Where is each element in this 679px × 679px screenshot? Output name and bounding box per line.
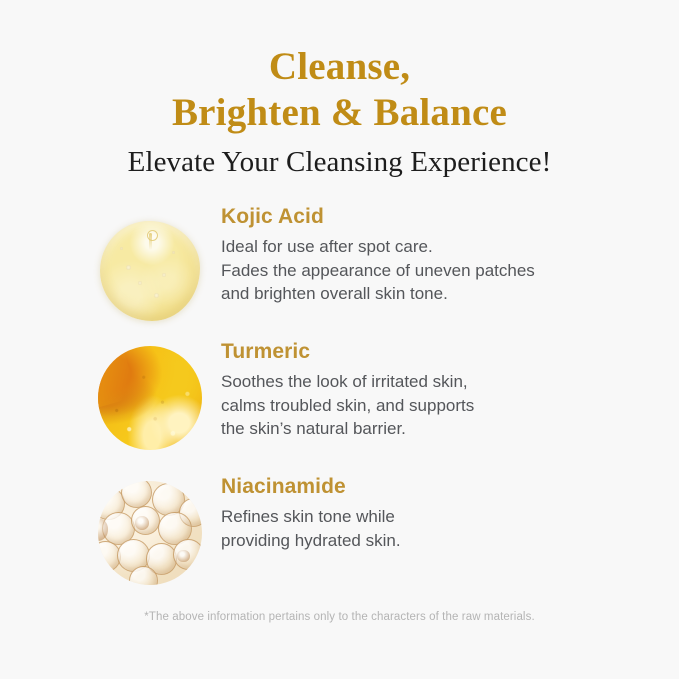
gel-bubble-detail [162,273,166,277]
kojic-acid-swatch-wrap [98,211,202,315]
description-line: providing hydrated skin. [221,529,641,553]
ingredient-infographic: Cleanse, Brighten & Balance Elevate Your… [0,0,679,679]
header-block: Cleanse, Brighten & Balance Elevate Your… [0,44,679,179]
turmeric-text: Turmeric Soothes the look of irritated s… [221,340,641,441]
turmeric-speck-texture [98,346,202,450]
page-title: Cleanse, Brighten & Balance [0,44,679,136]
headline-line-1: Cleanse, [0,44,679,90]
page-subtitle: Elevate Your Cleansing Experience! [0,145,679,179]
list-item: Niacinamide Refines skin tone while prov… [0,475,679,610]
ingredient-description: Refines skin tone while providing hydrat… [221,505,641,552]
disclaimer-footnote: *The above information pertains only to … [0,611,679,623]
niacinamide-text: Niacinamide Refines skin tone while prov… [221,475,641,552]
ingredient-name: Niacinamide [221,475,641,499]
description-line: Soothes the look of irritated skin, [221,370,641,394]
bubble-shadow-detail [135,516,149,530]
ingredient-description: Soothes the look of irritated skin, calm… [221,370,641,441]
gel-bubble-detail [138,281,142,285]
ingredient-list: Kojic Acid Ideal for use after spot care… [0,205,679,610]
turmeric-swatch-wrap [98,346,202,450]
gel-stem-detail [149,233,152,250]
niacinamide-bubbles-swatch [98,481,202,585]
ingredient-description: Ideal for use after spot care. Fades the… [221,235,641,306]
gel-bubble-detail [172,251,175,254]
description-line: calms troubled skin, and supports [221,394,641,418]
kojic-acid-text: Kojic Acid Ideal for use after spot care… [221,205,641,306]
ingredient-name: Kojic Acid [221,205,641,229]
ingredient-name: Turmeric [221,340,641,364]
gel-bubble-detail [126,265,131,270]
description-line: Fades the appearance of uneven patches [221,259,641,283]
niacinamide-swatch-wrap [98,481,202,585]
kojic-acid-gel-swatch [100,221,200,321]
gel-bubble-detail [120,247,123,250]
list-item: Turmeric Soothes the look of irritated s… [0,340,679,475]
description-line: Ideal for use after spot care. [221,235,641,259]
list-item: Kojic Acid Ideal for use after spot care… [0,205,679,340]
bubble-detail [121,481,152,508]
headline-line-2: Brighten & Balance [0,90,679,136]
description-line: and brighten overall skin tone. [221,282,641,306]
description-line: Refines skin tone while [221,505,641,529]
turmeric-powder-swatch [98,346,202,450]
description-line: the skin’s natural barrier. [221,417,641,441]
gel-bubble-detail [154,293,159,298]
bubble-shadow-detail [177,550,189,562]
